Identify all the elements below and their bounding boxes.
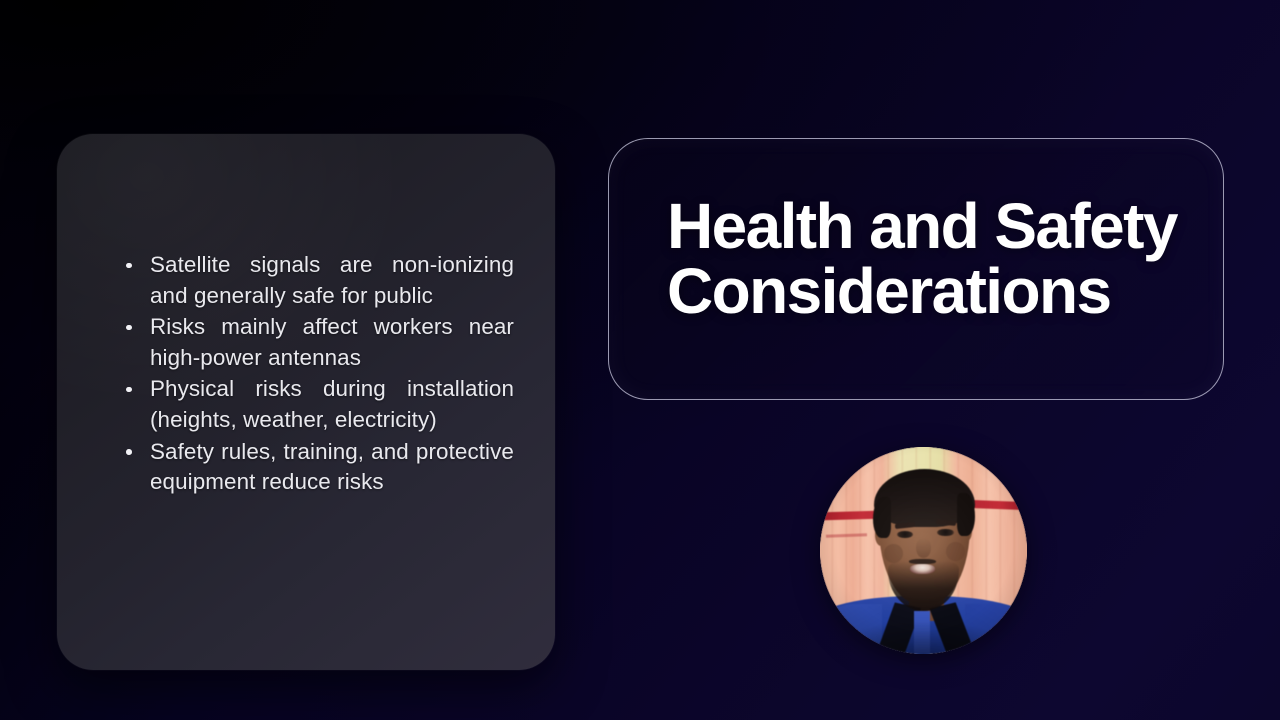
page-title-line-1: Health and Safety: [667, 194, 1207, 259]
list-item: Safety rules, training, and protective e…: [124, 437, 514, 498]
bullet-text: Safety rules, training, and protective e…: [150, 439, 514, 495]
content-card: Satellite signals are non-ionizing and g…: [57, 134, 555, 670]
list-item: Risks mainly affect workers near high-po…: [124, 312, 514, 373]
list-item: Satellite signals are non-ionizing and g…: [124, 250, 514, 311]
page-title-line-2: Considerations: [667, 259, 1207, 324]
slide-canvas: Satellite signals are non-ionizing and g…: [0, 0, 1280, 720]
list-item: Physical risks during installation (heig…: [124, 374, 514, 435]
page-title: Health and Safety Considerations: [667, 194, 1207, 324]
presenter-webcam-avatar: [820, 447, 1027, 654]
bullet-list: Satellite signals are non-ionizing and g…: [124, 250, 514, 499]
bullet-text: Physical risks during installation (heig…: [150, 376, 514, 432]
bullet-text: Satellite signals are non-ionizing and g…: [150, 252, 514, 308]
title-card: Health and Safety Considerations: [608, 138, 1224, 400]
bullet-text: Risks mainly affect workers near high-po…: [150, 314, 514, 370]
webcam-vignette: [820, 447, 1027, 654]
